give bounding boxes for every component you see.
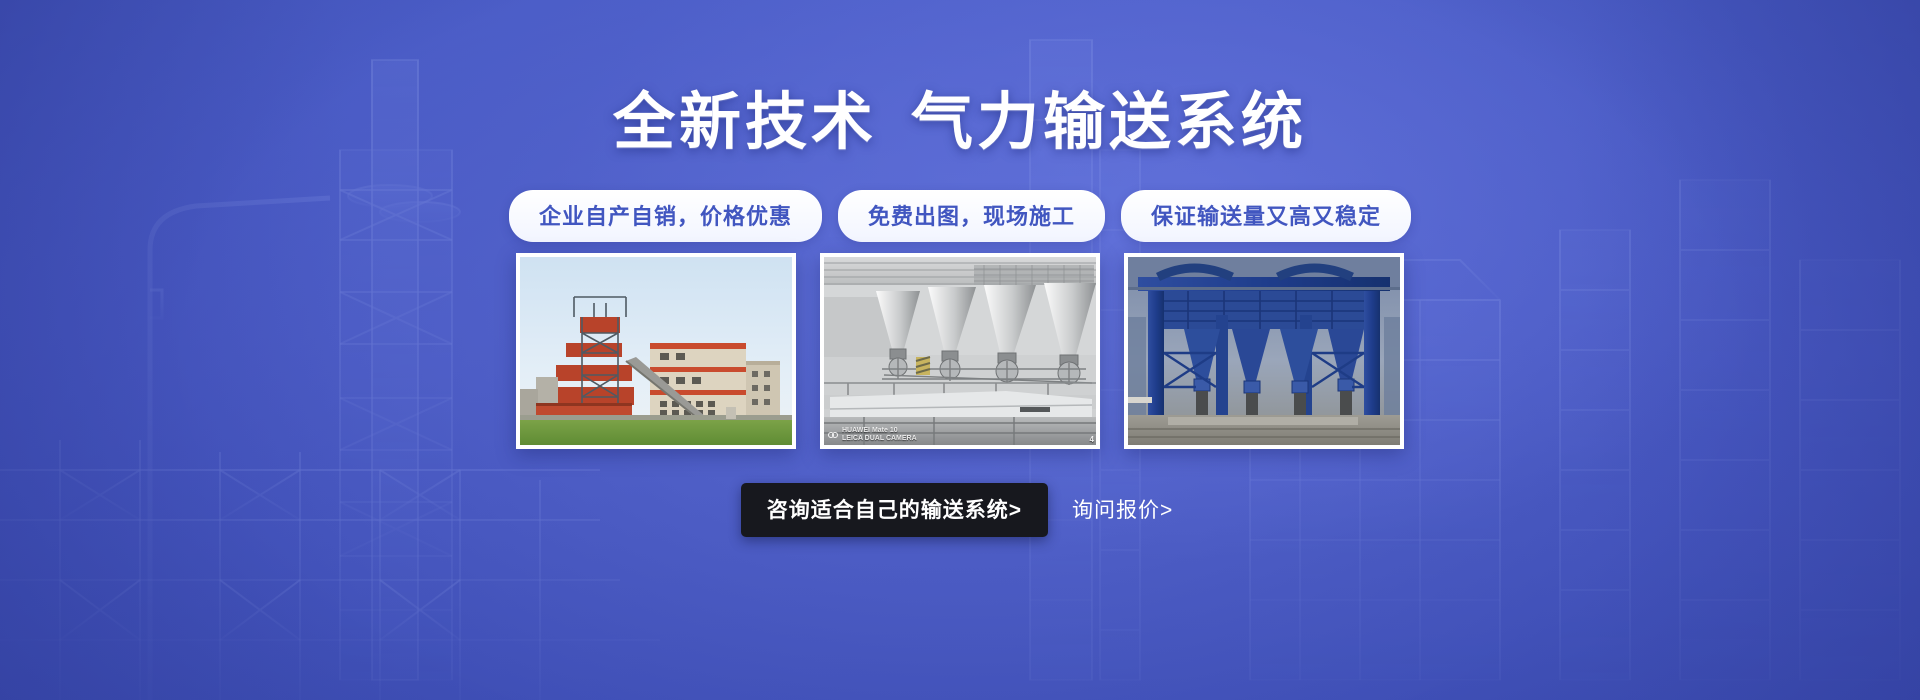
photo-frame	[824, 257, 1096, 445]
camera-lens-icon	[828, 432, 839, 438]
request-quote-button[interactable]: 询问报价>	[1066, 483, 1179, 537]
photo-corner-label: 4	[1090, 435, 1094, 444]
hero-banner: 全新技术气力输送系统 企业自产自销，价格优惠 免费出图，现场施工 保证输送量又高…	[0, 0, 1920, 700]
photo-watermark: HUAWEI Mate 10 LEICA DUAL CAMERA	[828, 427, 917, 443]
gallery-photo-hoppers-interior[interactable]: HUAWEI Mate 10 LEICA DUAL CAMERA 4	[820, 253, 1100, 449]
status-badge: 企业自产自销，价格优惠	[509, 190, 822, 242]
cta-row: 咨询适合自己的输送系统> 询问报价>	[0, 483, 1920, 537]
watermark-line-2: LEICA DUAL CAMERA	[842, 435, 917, 443]
photo-frame	[1128, 257, 1400, 445]
photo-gallery: HUAWEI Mate 10 LEICA DUAL CAMERA 4	[0, 253, 1920, 449]
consult-system-button[interactable]: 咨询适合自己的输送系统>	[741, 483, 1048, 537]
page-title: 全新技术气力输送系统	[0, 88, 1920, 158]
headline-part-1: 全新技术	[613, 88, 877, 157]
gallery-photo-plant-exterior[interactable]	[516, 253, 796, 449]
watermark-line-1: HUAWEI Mate 10	[842, 427, 917, 435]
status-badge: 保证输送量又高又稳定	[1121, 190, 1411, 242]
photo-frame	[520, 257, 792, 445]
headline-part-2: 气力输送系统	[911, 88, 1307, 157]
feature-badge-row: 企业自产自销，价格优惠 免费出图，现场施工 保证输送量又高又稳定	[0, 190, 1920, 242]
status-badge: 免费出图，现场施工	[838, 190, 1105, 242]
gallery-photo-blue-steel-structure[interactable]	[1124, 253, 1404, 449]
